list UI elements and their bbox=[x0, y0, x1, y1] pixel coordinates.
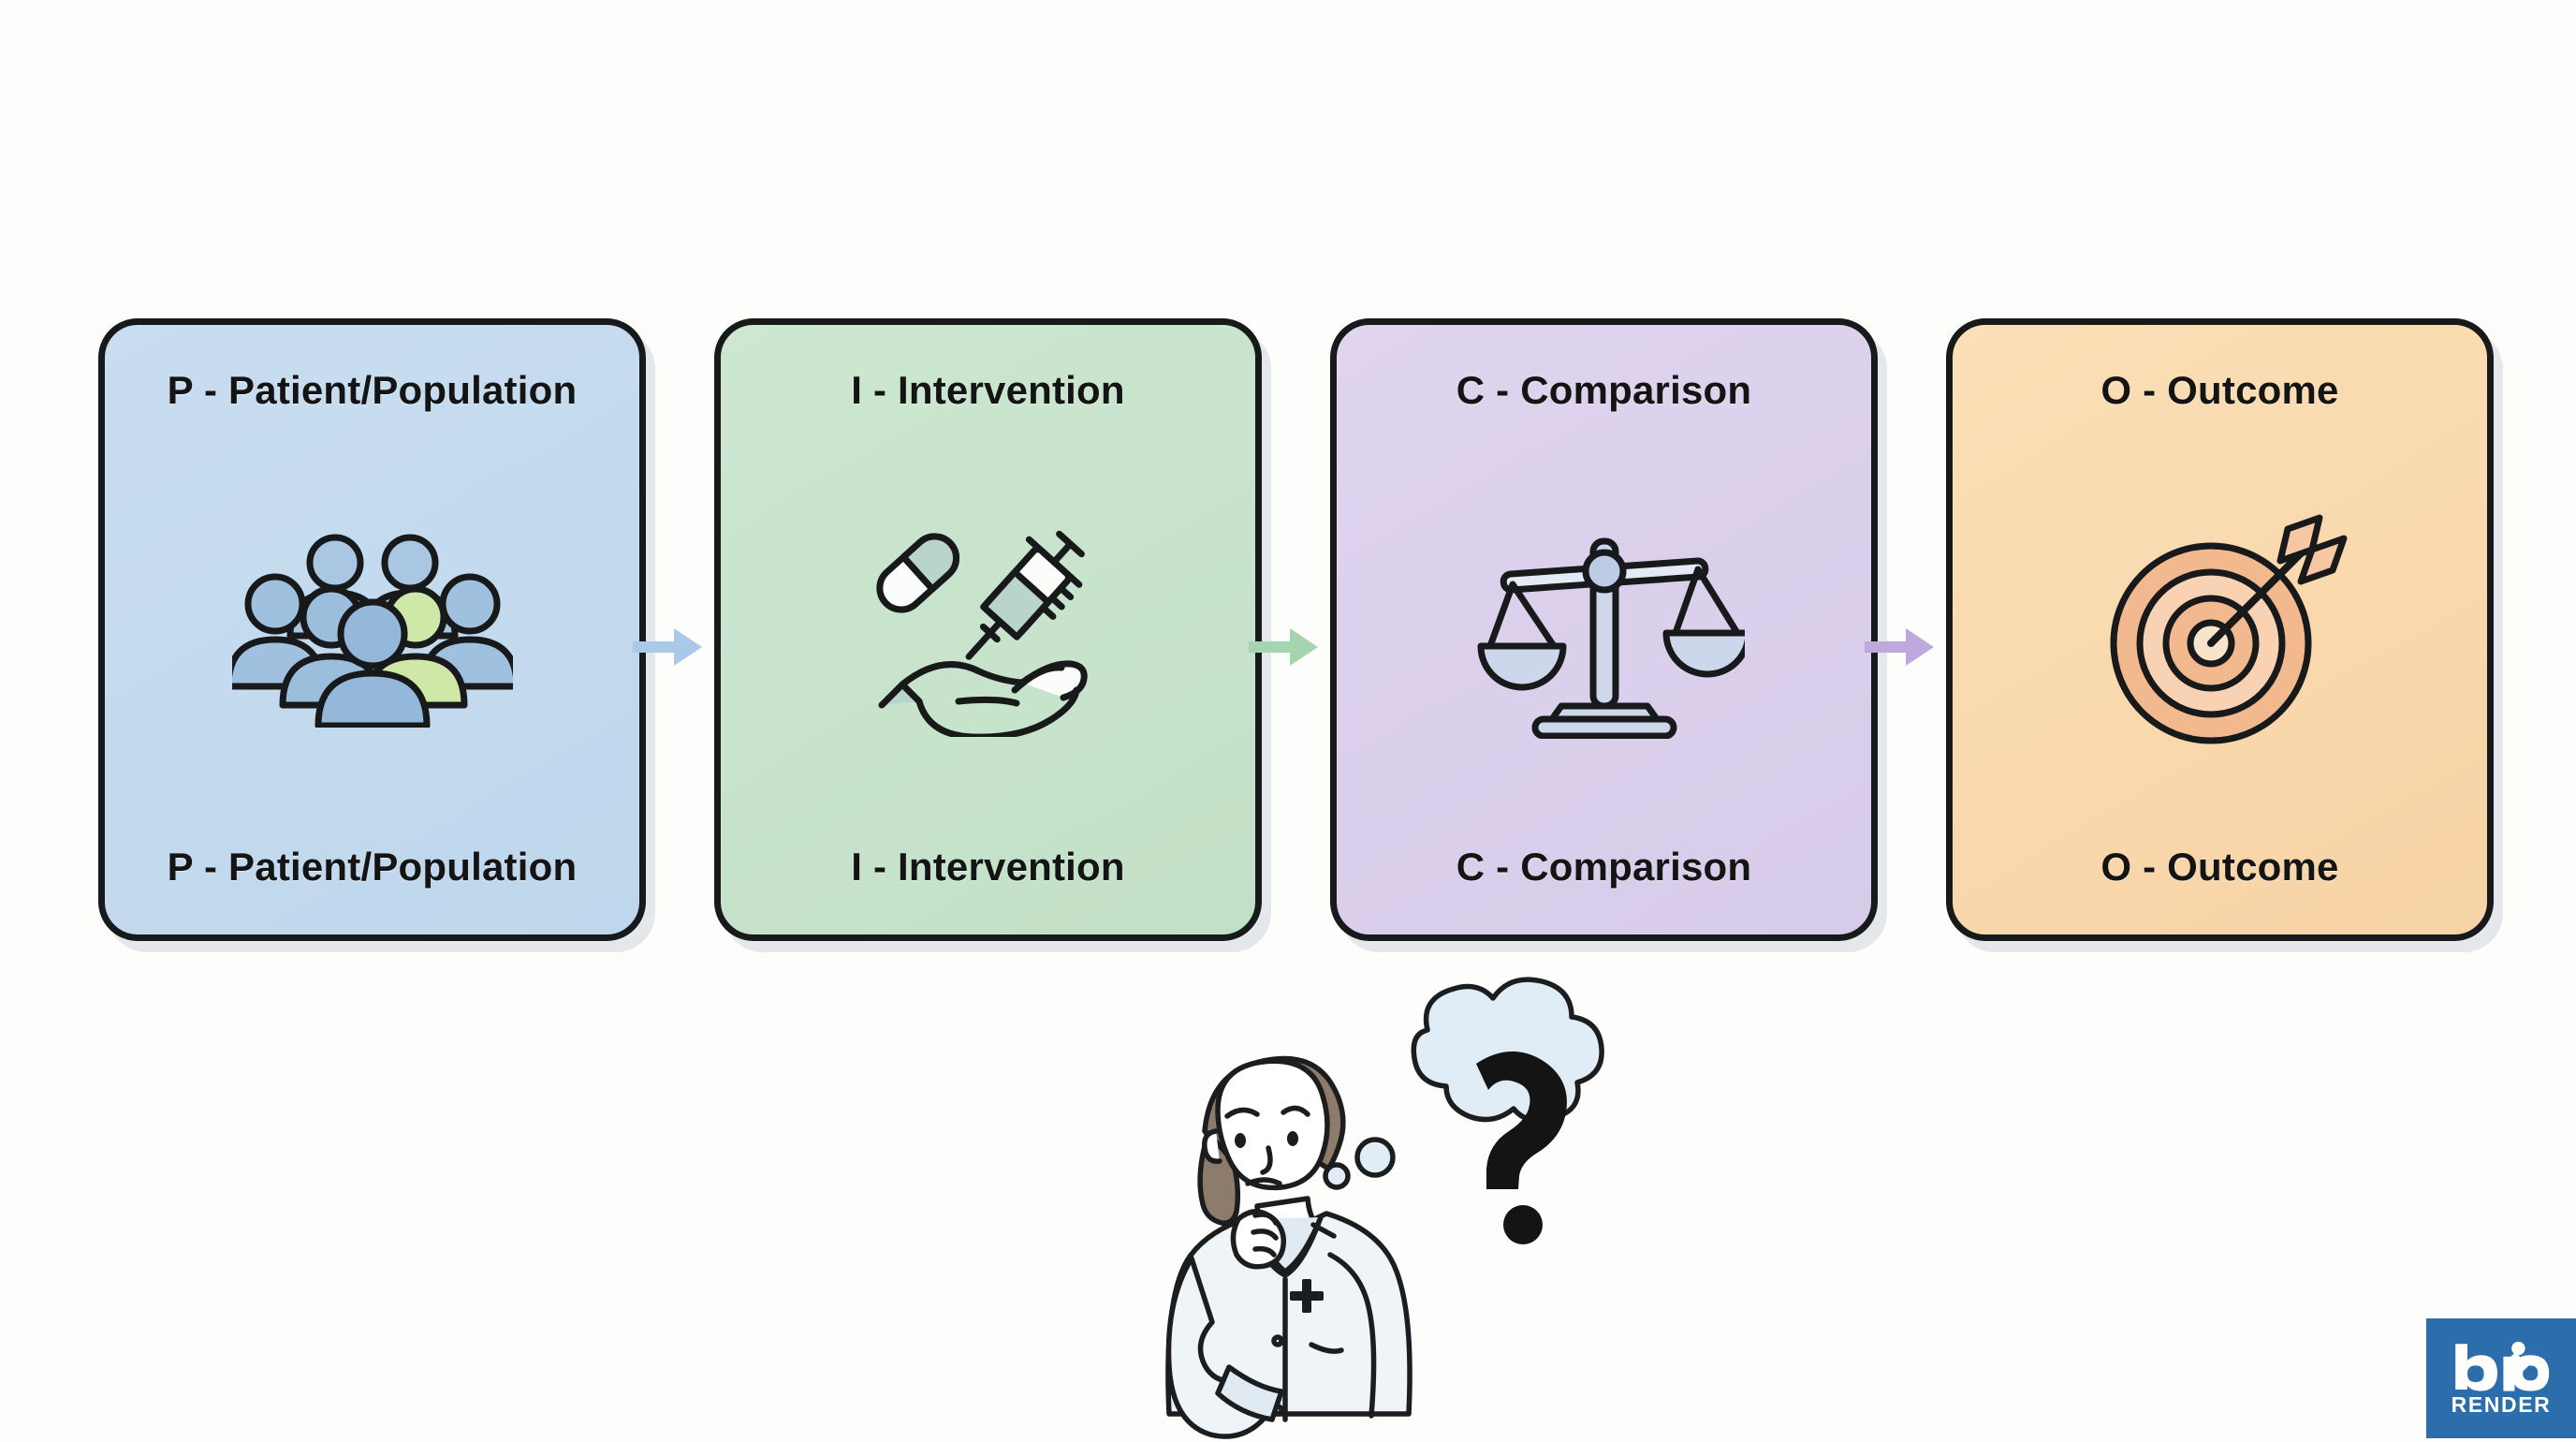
pico-card-patient[interactable]: P - Patient/Population bbox=[98, 318, 646, 941]
pill-syringe-hand-icon bbox=[734, 413, 1242, 845]
card-label-top: I - Intervention bbox=[851, 368, 1125, 413]
thinking-scientist bbox=[1147, 974, 1615, 1442]
people-group-icon bbox=[118, 413, 626, 845]
card-label-top: O - Outcome bbox=[2100, 368, 2338, 413]
pico-card-comparison[interactable]: C - Comparison bbox=[1330, 318, 1878, 941]
pico-card-outcome[interactable]: O - Outcome O - Outcome bbox=[1946, 318, 2494, 941]
biorender-logo: RENDER bbox=[2426, 1318, 2576, 1438]
card-label-top: C - Comparison bbox=[1456, 368, 1751, 413]
balance-scale-icon bbox=[1350, 413, 1858, 845]
biorender-bio-mark bbox=[2452, 1342, 2550, 1392]
target-arrow-icon bbox=[1966, 413, 2474, 845]
arrow-i-to-c bbox=[1249, 613, 1329, 681]
card-label-bottom: P - Patient/Population bbox=[168, 845, 578, 890]
arrow-p-to-i bbox=[633, 613, 713, 681]
card-label-bottom: I - Intervention bbox=[851, 845, 1125, 890]
card-label-bottom: O - Outcome bbox=[2100, 845, 2338, 890]
pico-card-intervention[interactable]: I - Intervention bbox=[714, 318, 1262, 941]
arrow-c-to-o bbox=[1865, 613, 1945, 681]
figure-canvas: P - Patient/Population bbox=[0, 0, 2576, 1438]
card-label-top: P - Patient/Population bbox=[168, 368, 578, 413]
biorender-render-text: RENDER bbox=[2452, 1394, 2552, 1416]
card-label-bottom: C - Comparison bbox=[1456, 845, 1751, 890]
